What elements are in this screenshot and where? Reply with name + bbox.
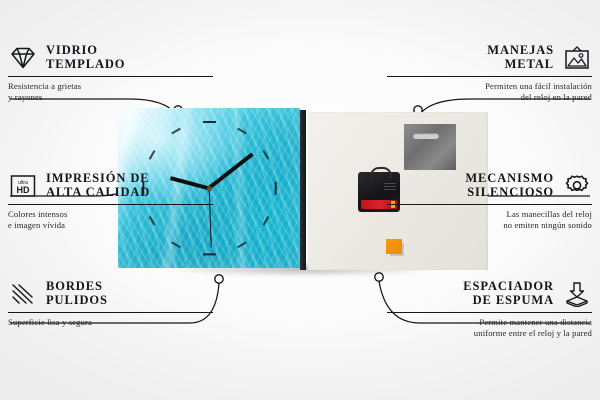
feature-subtitle: Resistencia a grietas y rayones [8,81,213,102]
feature-mecanismo-silencioso: MECANISMO SILENCIOSO Las manecillas del … [387,172,592,230]
ultra-hd-icon: ultra HD [8,173,38,199]
feature-title: BORDES PULIDOS [46,280,108,307]
gear-icon [562,173,592,199]
feature-subtitle: Las manecillas del reloj no emiten ningú… [387,209,592,230]
feature-rule [387,312,592,313]
feature-espaciador-de-espuma: ESPACIADOR DE ESPUMA Permite mantener un… [387,280,592,338]
feature-title: MECANISMO SILENCIOSO [465,172,554,199]
feature-rule [387,76,592,77]
feature-title: ESPACIADOR DE ESPUMA [463,280,554,307]
picture-hanger-icon [562,45,592,71]
diamond-icon [8,45,38,71]
foam-spacer-icon [562,281,592,307]
feature-rule [8,76,213,77]
glass-edge [300,110,306,270]
feature-rule [8,312,213,313]
foam-spacer [386,239,402,254]
feature-subtitle: Superficie lisa y segura [8,317,213,328]
svg-text:HD: HD [17,185,30,195]
feature-title: MANEJAS METAL [487,44,554,71]
feature-subtitle: Permite mantener una distancia uniforme … [387,317,592,338]
feature-impresion-alta-calidad: ultra HD IMPRESIÓN DE ALTA CALIDAD Color… [8,172,213,230]
feature-bordes-pulidos: BORDES PULIDOS Superficie lisa y segura [8,280,213,328]
feature-rule [8,204,213,205]
clock-tick [274,181,276,194]
hanger-slot [413,133,439,139]
feature-title: IMPRESIÓN DE ALTA CALIDAD [46,172,150,199]
feature-subtitle: Permiten una fácil instalación del reloj… [387,81,592,102]
feature-manejas-metal: MANEJAS METAL Permiten una fácil instala… [387,44,592,102]
clock-tick [203,121,216,123]
feature-subtitle: Colores intensos e imagen vívida [8,209,213,230]
feature-title: VIDRIO TEMPLADO [46,44,125,71]
feature-rule [387,204,592,205]
infographic-canvas: VIDRIO TEMPLADO Resistencia a grietas y … [0,0,600,400]
feature-vidrio-templado: VIDRIO TEMPLADO Resistencia a grietas y … [8,44,213,102]
polished-edges-icon [8,281,38,307]
metal-hanger-plate [404,124,456,170]
clock-tick [203,253,216,255]
